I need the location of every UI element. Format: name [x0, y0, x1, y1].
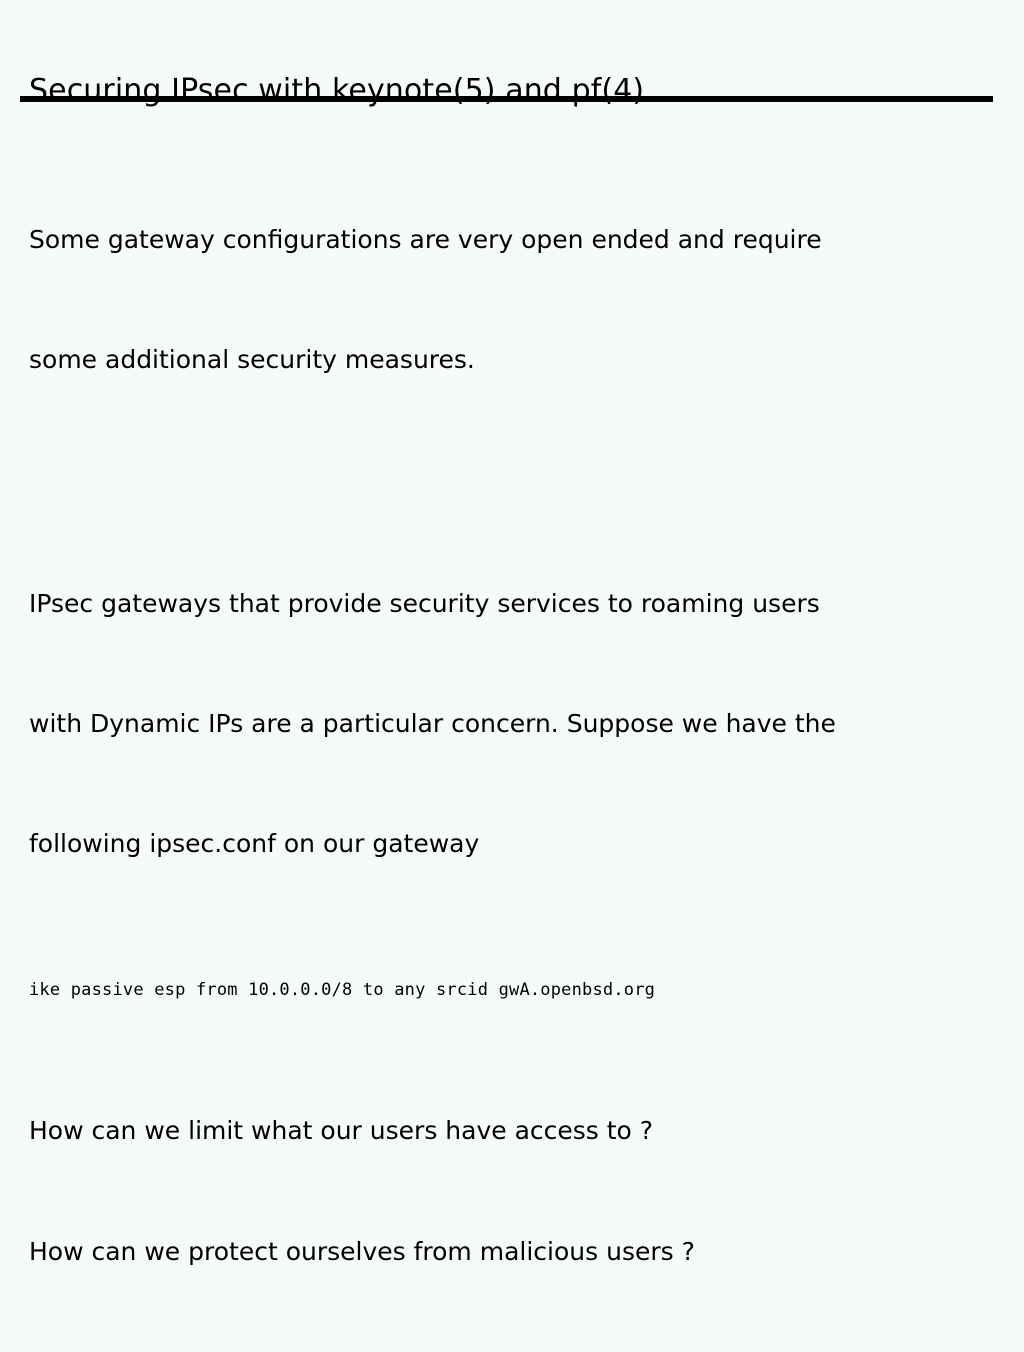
spacer-before-code	[29, 944, 989, 978]
slide-canvas: Securing IPsec with keynote(5) and pf(4)…	[0, 0, 1024, 768]
spacer-before-questions	[29, 1002, 989, 1030]
slide-title: Securing IPsec with keynote(5) and pf(4)	[29, 72, 644, 110]
ipsec-conf-code-line: ike passive esp from 10.0.0.0/8 to any s…	[29, 978, 989, 1002]
paragraph-intro-line-1: Some gateway configurations are very ope…	[29, 220, 989, 260]
paragraph-gateways: IPsec gateways that provide security ser…	[29, 504, 989, 944]
title-divider-rule	[20, 96, 993, 102]
questions-block: How can we limit what our users have acc…	[29, 1030, 989, 1352]
question-line-2: How can we protect ourselves from malici…	[29, 1231, 989, 1272]
spacer-after-intro	[29, 460, 989, 504]
slide-body: Some gateway configurations are very ope…	[29, 140, 989, 1352]
paragraph-gateways-line-1: IPsec gateways that provide security ser…	[29, 584, 989, 624]
paragraph-intro: Some gateway configurations are very ope…	[29, 140, 989, 460]
paragraph-gateways-line-3: following ipsec.conf on our gateway	[29, 824, 989, 864]
paragraph-gateways-line-2: with Dynamic IPs are a particular concer…	[29, 704, 989, 744]
question-line-1: How can we limit what our users have acc…	[29, 1110, 989, 1151]
paragraph-intro-line-2: some additional security measures.	[29, 340, 989, 380]
